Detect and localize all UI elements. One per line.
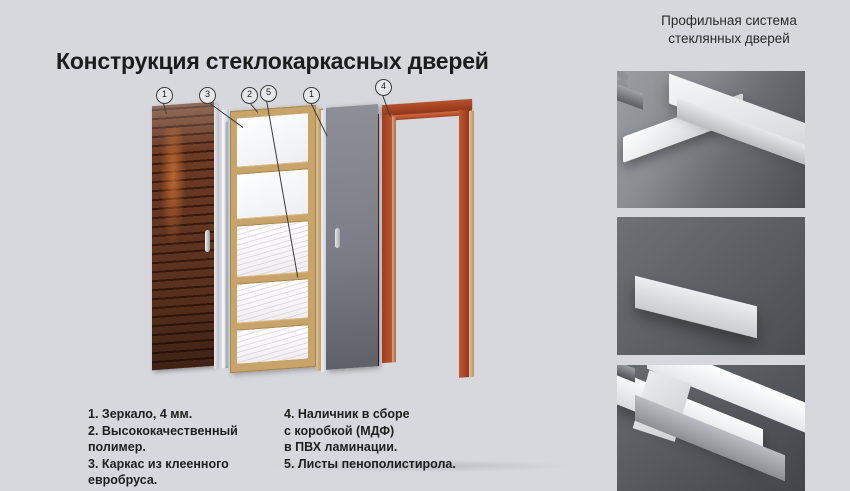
polymer-layer xyxy=(222,110,229,369)
callout-marker-4[interactable]: 4 xyxy=(375,79,392,96)
legend: 1. Зеркало, 4 мм. 2. Высококачественный … xyxy=(88,406,558,488)
page-title: Конструкция стеклокаркасных дверей xyxy=(56,48,556,75)
casing-right-leg-side xyxy=(469,111,474,377)
legend-item: с коробкой (МДФ) xyxy=(284,423,554,440)
slide-root: Конструкция стеклокаркасных дверей xyxy=(0,0,850,491)
grey-door-panel xyxy=(326,104,378,370)
casing-left-leg-side xyxy=(392,116,396,362)
frame-inner-area xyxy=(237,113,308,363)
styrofoam-sheet-3 xyxy=(237,325,308,363)
glass-pane-2 xyxy=(237,169,308,218)
legend-column-right: 4. Наличник в сборе с коробкой (МДФ) в П… xyxy=(284,406,554,472)
legend-column-left: 1. Зеркало, 4 мм. 2. Высококачественный … xyxy=(88,406,278,489)
profile-rail-photo[interactable] xyxy=(617,71,805,208)
callout-marker-5[interactable]: 5 xyxy=(260,85,277,102)
legend-item: полимер. xyxy=(88,439,278,456)
door-casing-frame xyxy=(382,99,472,377)
legend-item: в ПВХ ламинации. xyxy=(284,439,554,456)
corner-bracket-photo[interactable] xyxy=(617,217,805,355)
mirror-panel-handle xyxy=(205,230,210,252)
callout-marker-1[interactable]: 1 xyxy=(156,87,173,104)
profile-system-title: Профильная система стеклянных дверей xyxy=(608,12,850,48)
profile-system-title-line2: стеклянных дверей xyxy=(608,30,850,48)
callout-marker-3[interactable]: 3 xyxy=(199,87,216,104)
profile-system-title-line1: Профильная система xyxy=(608,12,850,30)
callout-marker-1b[interactable]: 1 xyxy=(303,87,320,104)
exploded-door-diagram: 1 3 2 5 1 4 xyxy=(130,88,470,388)
styrofoam-sheet-1 xyxy=(237,221,308,276)
grey-panel-handle xyxy=(335,228,340,248)
frame-lock-block xyxy=(309,223,315,253)
legend-item: 2. Высококачественный xyxy=(88,423,278,440)
profile-corner-closeup-photo[interactable] xyxy=(617,365,805,491)
legend-item: 1. Зеркало, 4 мм. xyxy=(88,406,278,423)
profile-system-panel: Профильная система стеклянных дверей xyxy=(608,0,850,491)
legend-item: 5. Листы пенополистирола. xyxy=(284,456,554,473)
door-construction-panel: Конструкция стеклокаркасных дверей xyxy=(0,0,608,491)
styrofoam-sheet-2 xyxy=(237,279,308,322)
legend-item: евробруса. xyxy=(88,472,278,489)
legend-item: 3. Каркас из клеенного xyxy=(88,456,278,473)
callout-marker-2[interactable]: 2 xyxy=(241,87,258,104)
legend-item: 4. Наличник в сборе xyxy=(284,406,554,423)
